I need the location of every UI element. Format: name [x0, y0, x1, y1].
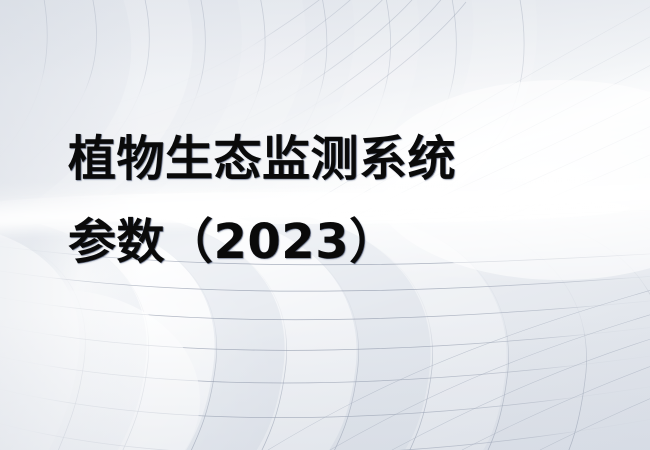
title-slide: 植物生态监测系统 参数（2023）	[0, 0, 650, 450]
slide-title: 植物生态监测系统 参数（2023）	[68, 118, 588, 284]
title-line-2: 参数（2023）	[68, 201, 588, 284]
title-line-1: 植物生态监测系统	[68, 118, 588, 201]
